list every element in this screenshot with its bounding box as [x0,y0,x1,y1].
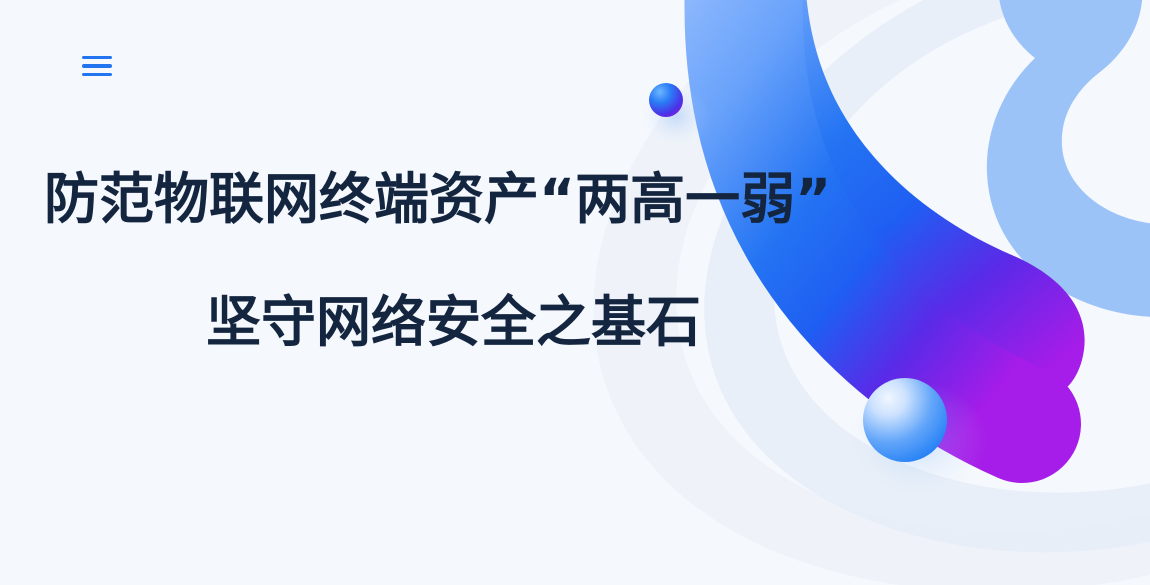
hamburger-menu-icon[interactable] [82,50,116,82]
slide-canvas: 防范物联网终端资产“两高一弱” 坚守网络安全之基石 [0,0,1150,585]
small-gradient-sphere [649,83,683,117]
large-blue-sphere [863,378,947,462]
title-line-secondary: 坚守网络安全之基石 [0,295,900,350]
large-sphere-glow [848,382,988,498]
small-sphere-glow [642,86,710,146]
page-title: 防范物联网终端资产“两高一弱” 坚守网络安全之基石 [0,172,900,350]
menu-bar-top [82,56,112,60]
title-line-primary: 防范物联网终端资产“两高一弱” [0,172,900,227]
light-blue-arc [987,0,1150,317]
menu-bar-bottom [82,73,112,77]
menu-bar-middle [82,64,112,68]
